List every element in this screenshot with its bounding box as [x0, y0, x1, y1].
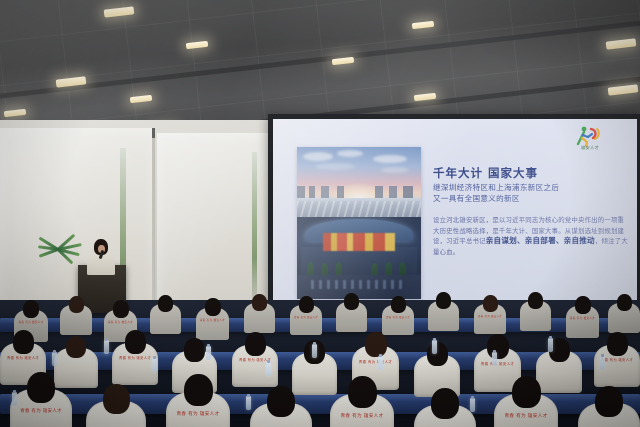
plaza-foreground: [297, 275, 421, 299]
audience-member-head: [348, 376, 377, 408]
running-figure-icon: [571, 125, 609, 147]
water-bottle: [246, 396, 251, 410]
conference-hall-photo: 千年大计 国家大事 继深圳经济特区和上海浦东新区之后 又一具有全国意义的新区 设…: [0, 0, 640, 427]
audience-member-head: [487, 334, 509, 359]
shirt-print-text: 青春 有为 雄安人才: [353, 360, 398, 365]
slide-subtitle: 继深圳经济特区和上海浦东新区之后 又一具有全国意义的新区: [433, 182, 623, 204]
audience-member-head: [245, 332, 266, 356]
shirt-print-text: 青春 有为 雄安人才: [475, 362, 520, 367]
audience-member-head: [23, 300, 39, 318]
slide-body-emphasis: 亲自谋划、亲自部署、亲自推动: [486, 236, 595, 245]
audience-member-head: [113, 300, 129, 318]
audience-member-head: [483, 295, 498, 312]
shirt-print-text: 青春 有为 雄安人才: [15, 320, 47, 324]
slide-subtitle-line-1: 继深圳经济特区和上海浦东新区之后: [433, 182, 623, 193]
water-bottle: [52, 352, 57, 366]
water-bottle: [432, 340, 437, 354]
window-gap: [252, 152, 257, 302]
water-bottle: [492, 352, 497, 366]
shirt-print-text: 青春 有为 雄安人才: [113, 356, 157, 361]
audience-member-head: [184, 338, 205, 362]
water-bottle: [152, 358, 157, 372]
audience-member-head: [391, 296, 406, 313]
water-bottle: [600, 356, 605, 370]
shirt-print-text: 青春 有为 雄安人才: [197, 318, 228, 322]
shirt-print-text: 青春 有为 雄安人才: [475, 314, 505, 318]
audience-member-head: [267, 386, 295, 417]
potted-plant: [36, 222, 84, 274]
station-interior-lights: [323, 233, 395, 251]
slide-body-text: 设立河北雄安新区，是以习近平同志为核心的党中央作出的一项重大历史性战略选择，是千…: [433, 215, 629, 257]
water-bottle: [378, 356, 383, 370]
shirt-print-text: 青春 有为 雄安人才: [567, 316, 598, 320]
audience-member-head: [252, 294, 267, 311]
audience-member-head: [299, 296, 314, 313]
shirt-print-text: 青春 有为 雄安人才: [496, 412, 557, 419]
water-bottle: [470, 398, 475, 412]
slide-photo-stack: [297, 147, 421, 299]
xiongan-station-night-photo: [297, 217, 421, 299]
roof-deck: [297, 198, 421, 217]
water-bottle: [548, 338, 553, 352]
shirt-print-text: 青春 有为 雄安人才: [12, 407, 71, 414]
water-bottle: [206, 346, 211, 360]
shirt-print-text: 青春 有为 雄安人才: [383, 315, 413, 319]
audience-member-head: [66, 336, 86, 358]
shirt-print-text: 青春 有为 雄安人才: [1, 356, 45, 361]
audience-member-head: [158, 295, 173, 312]
audience-member-head: [125, 330, 146, 354]
audience-member-head: [528, 292, 543, 309]
slide-title: 千年大计 国家大事: [433, 165, 629, 181]
water-bottle: [12, 392, 17, 406]
audience-member-head: [184, 374, 213, 406]
water-bottle: [266, 362, 271, 376]
xiongan-talent-logo: 雄安人才: [571, 125, 609, 159]
slide-subtitle-line-2: 又一具有全国意义的新区: [433, 193, 623, 204]
shirt-print-text: 青春 有为 雄安人才: [291, 315, 321, 319]
water-bottle: [312, 344, 317, 358]
audience-member-head: [617, 294, 632, 311]
shirt-print-text: 青春 有为 雄安人才: [168, 410, 229, 417]
water-bottle: [104, 340, 109, 354]
audience-member-head: [427, 342, 448, 366]
audience-member-head: [103, 384, 130, 414]
audience-member-head: [607, 332, 628, 356]
audience-member-head: [27, 372, 55, 403]
audience-member-head: [512, 376, 541, 408]
audience-member-head: [205, 298, 221, 316]
logo-caption: 雄安人才: [571, 145, 609, 151]
audience-member-head: [344, 293, 359, 310]
projection-screen[interactable]: 千年大计 国家大事 继深圳经济特区和上海浦东新区之后 又一具有全国意义的新区 设…: [273, 119, 637, 313]
audience-member-head: [69, 296, 84, 313]
audience-member-head: [13, 330, 34, 354]
audience-member-head: [595, 386, 623, 417]
shirt-print-text: 青春 有为 雄安人才: [332, 412, 393, 419]
sunset-cityscape-photo: [297, 147, 421, 217]
shirt-print-text: 青春 有为 雄安人才: [105, 320, 136, 324]
audience-member-head: [436, 292, 451, 309]
audience-member-head: [365, 332, 387, 357]
audience-member-head: [431, 388, 459, 419]
audience-member-head: [575, 296, 591, 314]
